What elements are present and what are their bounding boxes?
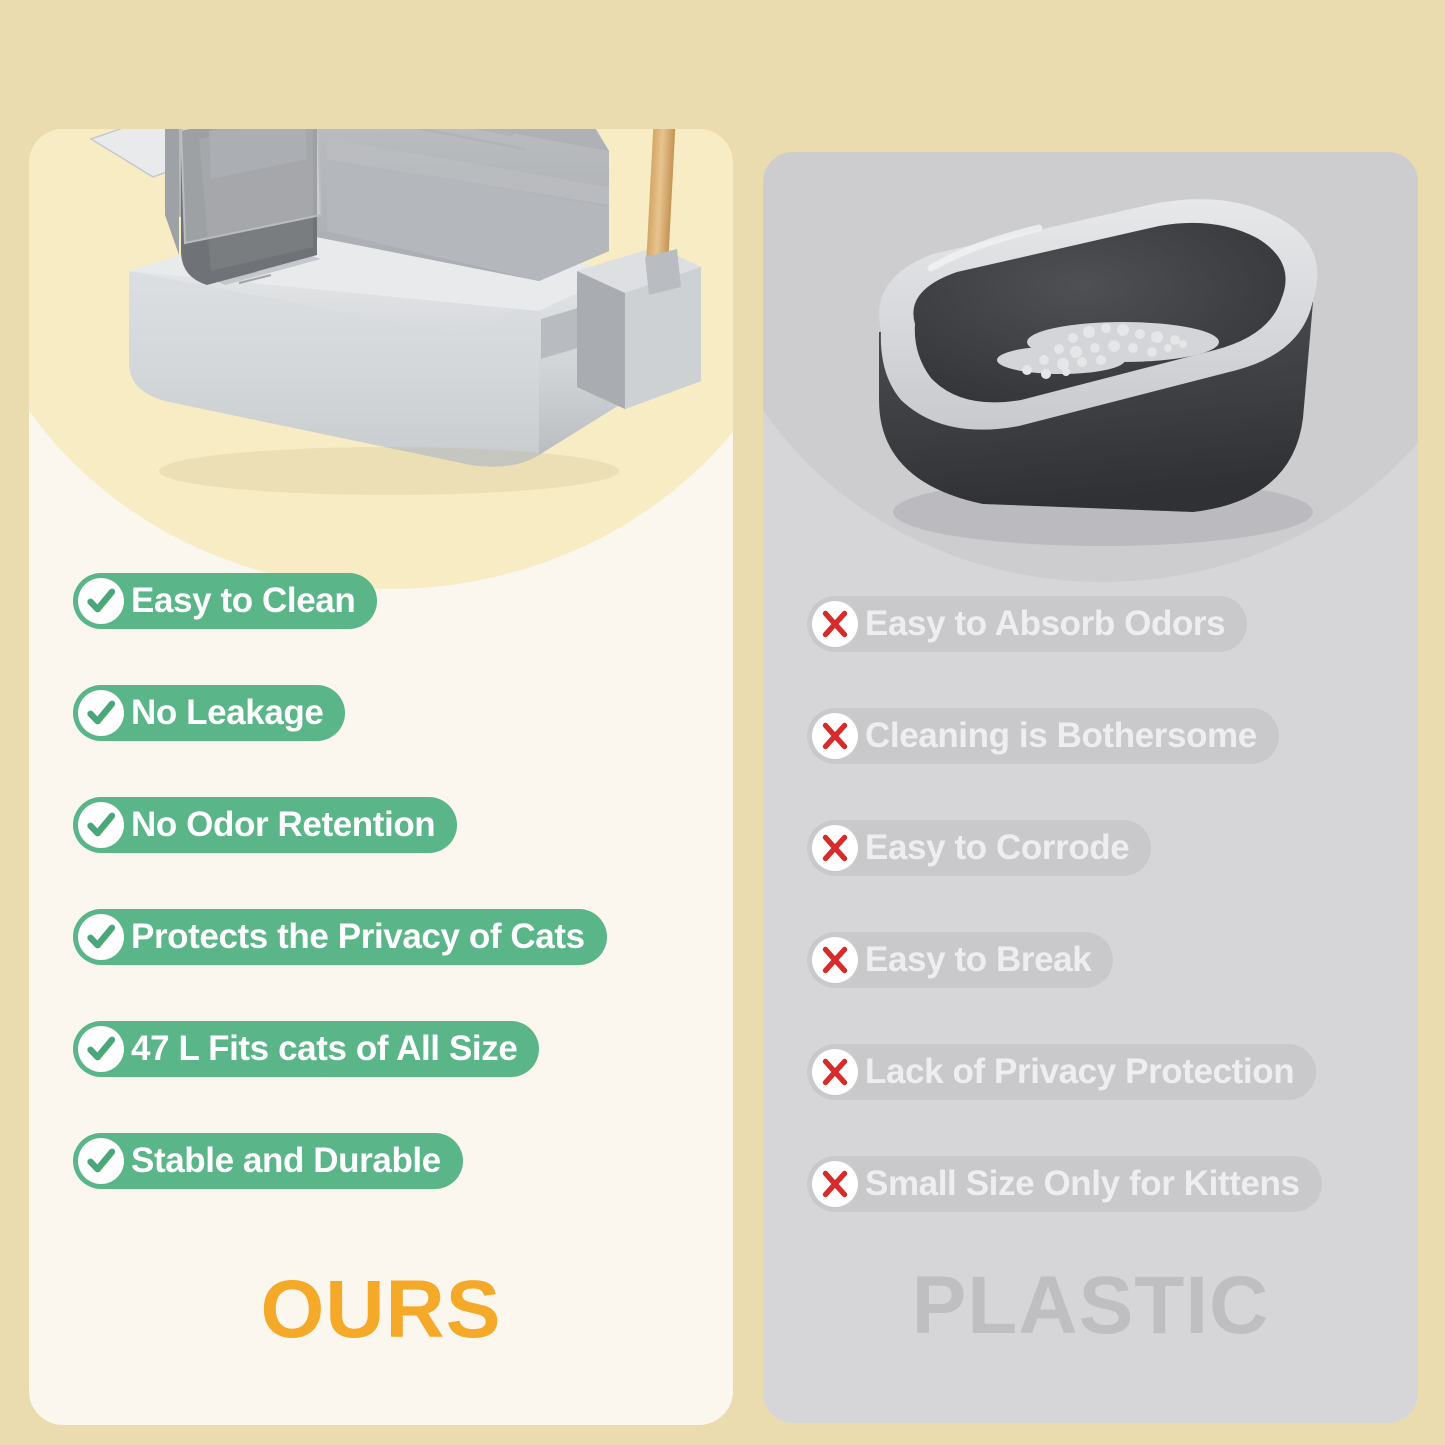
check-circle-icon (78, 914, 124, 960)
feature-label: Protects the Privacy of Cats (131, 917, 585, 957)
ours-comparison-card: Easy to Clean No Leakage No Odor Retenti… (29, 129, 733, 1425)
drawback-pill[interactable]: Easy to Absorb Odors (807, 596, 1247, 652)
feature-pill[interactable]: Protects the Privacy of Cats (73, 909, 607, 965)
drawback-label: Small Size Only for Kittens (865, 1164, 1300, 1204)
drawback-pill[interactable]: Small Size Only for Kittens (807, 1156, 1322, 1212)
drawback-label: Easy to Break (865, 940, 1091, 980)
ours-feature-list: Easy to Clean No Leakage No Odor Retenti… (73, 573, 723, 1189)
x-circle-icon (812, 601, 858, 647)
check-circle-icon (78, 1026, 124, 1072)
drawback-pill[interactable]: Cleaning is Bothersome (807, 708, 1279, 764)
drawback-label: Lack of Privacy Protection (865, 1052, 1294, 1092)
x-circle-icon (812, 1049, 858, 1095)
x-circle-icon (812, 713, 858, 759)
drawback-pill[interactable]: Easy to Corrode (807, 820, 1151, 876)
check-circle-icon (78, 802, 124, 848)
feature-pill[interactable]: No Leakage (73, 685, 345, 741)
plastic-litter-tray-image (823, 182, 1363, 562)
drawback-pill[interactable]: Easy to Break (807, 932, 1113, 988)
x-circle-icon (812, 1161, 858, 1207)
feature-label: 47 L Fits cats of All Size (131, 1029, 517, 1069)
check-circle-icon (78, 690, 124, 736)
drawback-label: Easy to Absorb Odors (865, 604, 1225, 644)
feature-pill[interactable]: 47 L Fits cats of All Size (73, 1021, 539, 1077)
drawback-label: Cleaning is Bothersome (865, 716, 1257, 756)
hooded-litter-box-image (69, 129, 709, 579)
drawback-label: Easy to Corrode (865, 828, 1129, 868)
check-circle-icon (78, 578, 124, 624)
drawback-pill[interactable]: Lack of Privacy Protection (807, 1044, 1316, 1100)
feature-pill[interactable]: Easy to Clean (73, 573, 377, 629)
x-circle-icon (812, 825, 858, 871)
plastic-comparison-card: Easy to Absorb Odors Cleaning is Bothers… (763, 152, 1418, 1423)
plastic-wordmark: PLASTIC (763, 1259, 1418, 1353)
plastic-drawback-list: Easy to Absorb Odors Cleaning is Bothers… (807, 596, 1408, 1212)
feature-label: No Leakage (131, 693, 323, 733)
feature-label: Easy to Clean (131, 581, 355, 621)
feature-label: Stable and Durable (131, 1141, 441, 1181)
x-circle-icon (812, 937, 858, 983)
feature-pill[interactable]: Stable and Durable (73, 1133, 463, 1189)
check-circle-icon (78, 1138, 124, 1184)
ours-wordmark: OURS (29, 1263, 733, 1357)
feature-label: No Odor Retention (131, 805, 435, 845)
feature-pill[interactable]: No Odor Retention (73, 797, 457, 853)
